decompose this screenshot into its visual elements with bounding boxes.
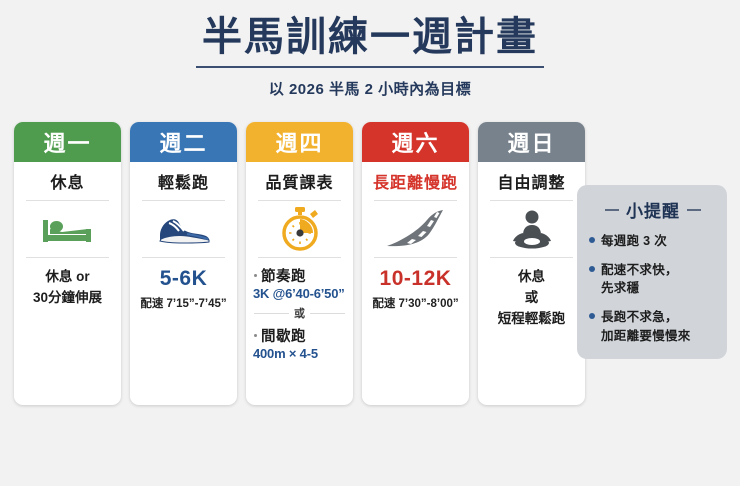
day-card-tuesday[interactable]: 週二 輕鬆跑 5-6K 配速 7’15”-7’45” [130, 122, 237, 405]
day-activity-title: 品質課表 [265, 169, 333, 200]
day-header-saturday: 週六 [362, 122, 469, 162]
tip-dot-icon [589, 266, 595, 272]
bullet-item: 節奏跑 [252, 265, 347, 286]
day-activity-title: 自由調整 [497, 169, 565, 200]
day-detail: 休息 或 短程輕鬆跑 [484, 258, 579, 330]
meditation-icon [506, 201, 558, 257]
page-title: 半馬訓練一週計畫 [196, 14, 544, 68]
bullet-dot-icon [254, 334, 257, 337]
or-line-right [310, 313, 345, 314]
day-detail: 休息 or 30分鐘伸展 [20, 258, 115, 309]
day-body-sunday: 自由調整 休息 或 短程輕鬆跑 [478, 162, 585, 405]
or-separator: 或 [254, 305, 345, 321]
or-line-left [254, 313, 289, 314]
day-body-saturday: 長距離慢跑 10-12K 配速 7’30”-8’00” [362, 162, 469, 405]
day-label: 週六 [391, 126, 439, 158]
stopwatch-icon [276, 201, 324, 257]
weekly-plan-board: 週一 休息 休息 or 30分鐘伸展 週二 [14, 122, 585, 405]
tip-item: 長跑不求急， 加距離要慢慢來 [589, 308, 717, 344]
day-body-tuesday: 輕鬆跑 5-6K 配速 7’15”-7’45” [130, 162, 237, 405]
day-body-thursday: 品質課表 [246, 162, 353, 405]
day-activity-title: 輕鬆跑 [158, 169, 209, 200]
day-detail-line: 或 [484, 288, 579, 309]
running-shoe-icon [154, 201, 214, 257]
day-label: 週一 [43, 126, 91, 158]
day-pace: 配速 7’30”-8’00” [368, 295, 463, 311]
day-card-saturday[interactable]: 週六 長距離慢跑 10-12K 配速 7’30”-8’00” [362, 122, 469, 405]
day-detail: 5-6K 配速 7’15”-7’45” [136, 258, 231, 311]
tips-title: 小提醒 [589, 197, 717, 222]
day-card-monday[interactable]: 週一 休息 休息 or 30分鐘伸展 [14, 122, 121, 405]
day-body-monday: 休息 休息 or 30分鐘伸展 [14, 162, 121, 405]
day-header-sunday: 週日 [478, 122, 585, 162]
day-label: 週二 [159, 126, 207, 158]
day-detail-line-highlight: 短程輕鬆跑 [484, 309, 579, 330]
bed-rest-icon [40, 201, 96, 257]
day-detail-bullets: 節奏跑 3K @6’40-6’50” 或 間歇跑 400m × 4-5 [252, 258, 347, 361]
tips-rule-right [687, 209, 701, 211]
day-label: 週日 [507, 126, 555, 158]
bullet-title: 節奏跑 [261, 265, 306, 286]
tip-text: 長跑不求急， 加距離要慢慢來 [601, 308, 691, 344]
bullet-title: 間歇跑 [261, 325, 306, 346]
tips-panel: 小提醒 每週跑 3 次 配速不求快， 先求穩 長跑不求急， 加距離要慢慢來 [577, 185, 727, 359]
road-icon [383, 201, 449, 257]
page-header: 半馬訓練一週計畫 以 2026 半馬 2 小時內為目標 [0, 0, 740, 99]
day-card-thursday[interactable]: 週四 品質課表 [246, 122, 353, 405]
tip-item: 每週跑 3 次 [589, 232, 717, 250]
tip-text: 配速不求快， 先求穩 [601, 261, 678, 297]
day-label: 週四 [275, 126, 323, 158]
tip-dot-icon [589, 237, 595, 243]
bullet-value: 3K @6’40-6’50” [252, 286, 347, 301]
or-text: 或 [294, 305, 305, 321]
day-distance: 10-12K [368, 267, 463, 291]
tip-item: 配速不求快， 先求穩 [589, 261, 717, 297]
day-header-monday: 週一 [14, 122, 121, 162]
tips-rule-left [605, 209, 619, 211]
day-pace: 配速 7’15”-7’45” [136, 295, 231, 311]
day-detail-line: 休息 or [20, 267, 115, 288]
day-distance: 5-6K [136, 267, 231, 291]
bullet-item: 間歇跑 [252, 325, 347, 346]
tip-dot-icon [589, 313, 595, 319]
page-subtitle: 以 2026 半馬 2 小時內為目標 [0, 78, 740, 99]
day-detail: 10-12K 配速 7’30”-8’00” [368, 258, 463, 311]
day-activity-title: 休息 [50, 169, 84, 200]
tips-title-text: 小提醒 [626, 197, 680, 222]
bullet-dot-icon [254, 274, 257, 277]
tip-text: 每週跑 3 次 [601, 232, 667, 250]
bullet-value: 400m × 4-5 [252, 346, 347, 361]
day-detail-line: 休息 [484, 267, 579, 288]
day-detail-line: 30分鐘伸展 [20, 288, 115, 309]
day-card-sunday[interactable]: 週日 自由調整 休息 或 短程輕鬆跑 [478, 122, 585, 405]
day-activity-title: 長距離慢跑 [373, 169, 458, 200]
day-header-tuesday: 週二 [130, 122, 237, 162]
day-header-thursday: 週四 [246, 122, 353, 162]
